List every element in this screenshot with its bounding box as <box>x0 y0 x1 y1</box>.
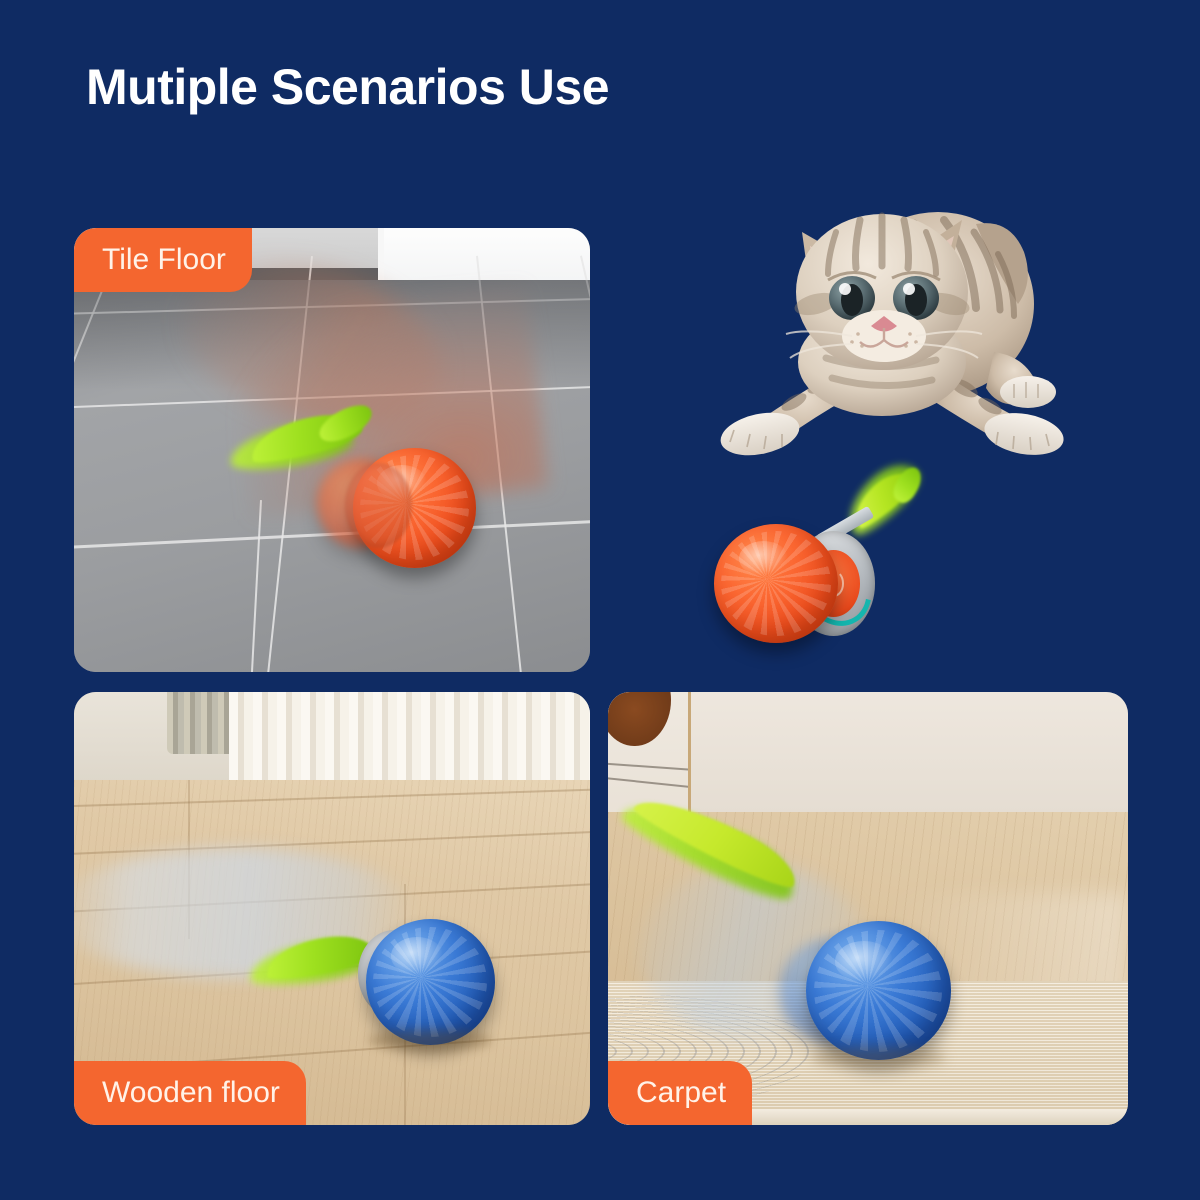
badge-tile-floor: Tile Floor <box>74 228 252 292</box>
badge-label: Tile Floor <box>102 243 226 277</box>
hero-cat-image <box>676 176 1096 476</box>
infographic-canvas: Mutiple Scenarios Use <box>0 0 1200 1200</box>
badge-label: Wooden floor <box>102 1076 280 1110</box>
ball-ground-shadow <box>811 1047 946 1069</box>
ball-highlight <box>835 941 893 983</box>
toy-ball-blue <box>806 921 952 1060</box>
wall-art-shape <box>608 692 671 746</box>
curtain <box>229 692 590 794</box>
badge-wooden-floor: Wooden floor <box>74 1061 306 1125</box>
scenario-panel-wooden-floor[interactable]: Wooden floor <box>74 692 590 1125</box>
badge-label: Carpet <box>636 1076 726 1110</box>
product-ball-orange <box>714 524 838 643</box>
badge-carpet: Carpet <box>608 1061 752 1125</box>
ball-housing-ring <box>345 463 412 547</box>
scenario-panel-tile-floor[interactable]: Tile Floor <box>74 228 590 672</box>
scene-tile-floor <box>74 228 590 672</box>
hero-product-toy <box>700 470 930 650</box>
ball-highlight <box>391 937 443 975</box>
toy-ball-blue <box>366 919 495 1045</box>
wall-art-frame <box>608 692 691 820</box>
page-title: Mutiple Scenarios Use <box>86 58 609 116</box>
scenario-panel-carpet[interactable]: Carpet <box>608 692 1128 1125</box>
